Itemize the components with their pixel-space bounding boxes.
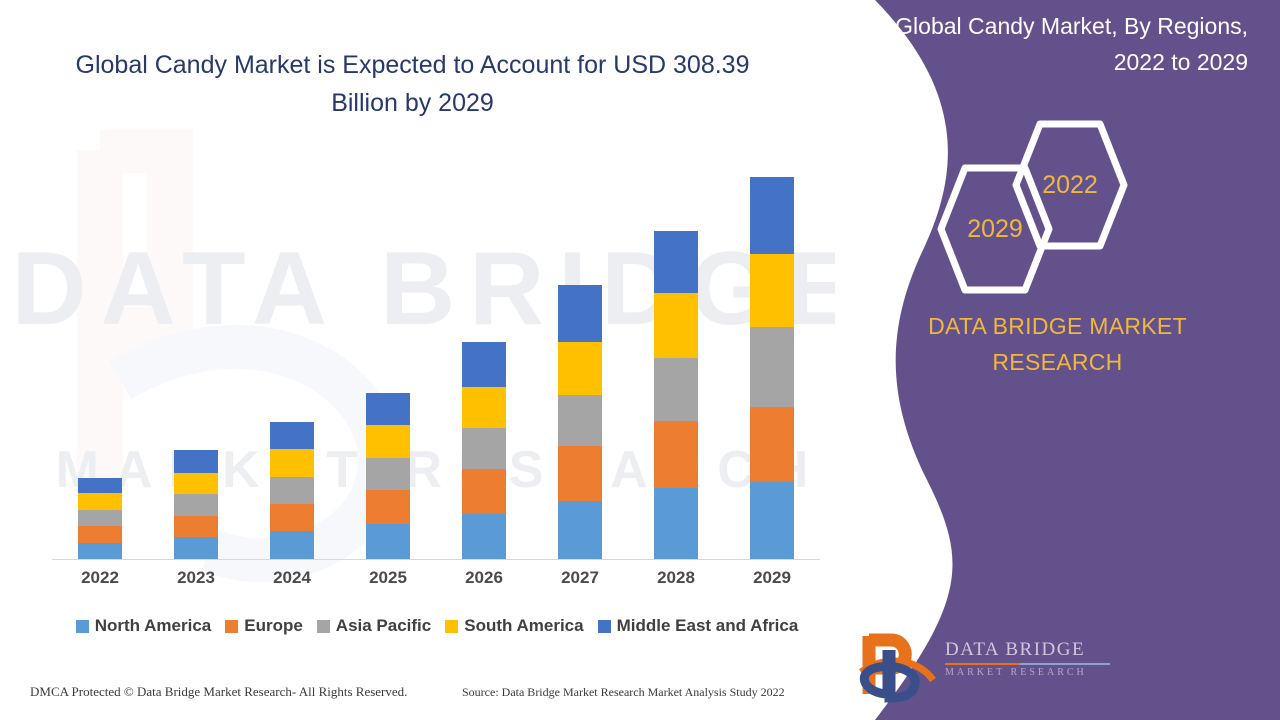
bar-segment[interactable] xyxy=(462,387,506,428)
bar-segment[interactable] xyxy=(558,342,602,395)
bar-segment[interactable] xyxy=(750,407,794,482)
brand-line-2: RESEARCH xyxy=(835,344,1280,380)
bar-segment[interactable] xyxy=(174,516,218,538)
bar-segment[interactable] xyxy=(270,477,314,504)
bar-segment[interactable] xyxy=(558,501,602,559)
legend-label: Europe xyxy=(244,616,303,636)
bar-segment[interactable] xyxy=(366,458,410,491)
x-axis-tick-2028: 2028 xyxy=(636,568,716,588)
hexagon-badge-2022: 2022 xyxy=(1010,118,1130,252)
bar-segment[interactable] xyxy=(750,327,794,407)
x-axis-tick-2025: 2025 xyxy=(348,568,428,588)
bar-segment[interactable] xyxy=(654,358,698,421)
source-text: Source: Data Bridge Market Research Mark… xyxy=(462,685,785,700)
logo-wordmark: DATA BRIDGE MARKET RESEARCH xyxy=(945,638,1115,678)
bar-segment[interactable] xyxy=(78,543,122,559)
bar-segment[interactable] xyxy=(750,482,794,559)
legend-item[interactable]: Europe xyxy=(225,616,303,636)
bar-segment[interactable] xyxy=(366,425,410,458)
x-axis-tick-2029: 2029 xyxy=(732,568,812,588)
data-bridge-logo-icon xyxy=(849,632,941,704)
legend-swatch-icon xyxy=(317,620,330,633)
x-axis-tick-2026: 2026 xyxy=(444,568,524,588)
chart-title: Global Candy Market is Expected to Accou… xyxy=(60,46,765,122)
bar-segment[interactable] xyxy=(174,537,218,559)
legend-item[interactable]: Middle East and Africa xyxy=(598,616,799,636)
bar-segment[interactable] xyxy=(462,469,506,514)
bar-segment[interactable] xyxy=(270,422,314,450)
x-axis-tick-2022: 2022 xyxy=(60,568,140,588)
x-axis-tick-2027: 2027 xyxy=(540,568,620,588)
bar-2022[interactable] xyxy=(78,478,122,559)
logo-subtitle: MARKET RESEARCH xyxy=(945,667,1115,678)
bar-2029[interactable] xyxy=(750,177,794,559)
legend-label: Middle East and Africa xyxy=(617,616,799,636)
bar-segment[interactable] xyxy=(78,478,122,493)
bar-segment[interactable] xyxy=(78,526,122,542)
bar-2026[interactable] xyxy=(462,342,506,559)
legend-item[interactable]: Asia Pacific xyxy=(317,616,431,636)
bar-segment[interactable] xyxy=(462,428,506,469)
bar-2027[interactable] xyxy=(558,285,602,559)
x-axis-line xyxy=(52,559,820,560)
logo-divider xyxy=(945,663,1110,665)
bar-segment[interactable] xyxy=(654,488,698,559)
bar-segment[interactable] xyxy=(270,531,314,559)
bar-segment[interactable] xyxy=(270,504,314,532)
brand-panel: Global Candy Market, By Regions, 2022 to… xyxy=(835,0,1280,720)
company-logo: DATA BRIDGE MARKET RESEARCH xyxy=(849,632,1109,704)
bar-segment[interactable] xyxy=(78,510,122,526)
bar-segment[interactable] xyxy=(174,450,218,473)
bar-segment[interactable] xyxy=(750,254,794,328)
brand-name: DATA BRIDGE MARKET RESEARCH xyxy=(835,308,1280,380)
legend-swatch-icon xyxy=(445,620,458,633)
bar-segment[interactable] xyxy=(462,342,506,387)
bar-2025[interactable] xyxy=(366,393,410,559)
bar-2028[interactable] xyxy=(654,231,698,559)
legend-swatch-icon xyxy=(76,620,89,633)
bar-segment[interactable] xyxy=(558,446,602,500)
x-axis-tick-2024: 2024 xyxy=(252,568,332,588)
x-axis-tick-2023: 2023 xyxy=(156,568,236,588)
legend-label: South America xyxy=(464,616,583,636)
bar-segment[interactable] xyxy=(462,514,506,559)
bar-2024[interactable] xyxy=(270,422,314,559)
bar-segment[interactable] xyxy=(654,421,698,489)
bar-segment[interactable] xyxy=(174,494,218,516)
bar-segment[interactable] xyxy=(78,493,122,509)
legend-swatch-icon xyxy=(225,620,238,633)
legend-label: Asia Pacific xyxy=(336,616,431,636)
bar-segment[interactable] xyxy=(558,395,602,446)
bar-segment[interactable] xyxy=(654,231,698,293)
hexagon-label-2022: 2022 xyxy=(1010,118,1130,252)
hexagon-badges: 2029 2022 xyxy=(835,118,1280,288)
copyright-text: DMCA Protected © Data Bridge Market Rese… xyxy=(30,684,407,700)
bar-segment[interactable] xyxy=(654,293,698,359)
logo-title: DATA BRIDGE xyxy=(945,638,1115,662)
bar-segment[interactable] xyxy=(366,524,410,559)
brand-line-1: DATA BRIDGE MARKET xyxy=(835,308,1280,344)
chart-plot-area xyxy=(52,150,820,560)
infographic-canvas: DATA BRIDGE MARKET RESEARCH Global Candy… xyxy=(0,0,1280,720)
bar-segment[interactable] xyxy=(366,490,410,524)
bar-2023[interactable] xyxy=(174,450,218,559)
x-axis-labels: 20222023202420252026202720282029 xyxy=(52,568,820,594)
bar-segment[interactable] xyxy=(270,449,314,477)
legend-label: North America xyxy=(95,616,212,636)
panel-title: Global Candy Market, By Regions, 2022 to… xyxy=(888,8,1248,80)
bar-segment[interactable] xyxy=(750,177,794,254)
legend-item[interactable]: South America xyxy=(445,616,583,636)
chart-legend: North AmericaEuropeAsia PacificSouth Ame… xyxy=(52,616,822,636)
bar-segment[interactable] xyxy=(558,285,602,341)
legend-swatch-icon xyxy=(598,620,611,633)
footer: DMCA Protected © Data Bridge Market Rese… xyxy=(0,684,845,708)
bar-segment[interactable] xyxy=(174,473,218,495)
legend-item[interactable]: North America xyxy=(76,616,212,636)
bar-segment[interactable] xyxy=(366,393,410,425)
